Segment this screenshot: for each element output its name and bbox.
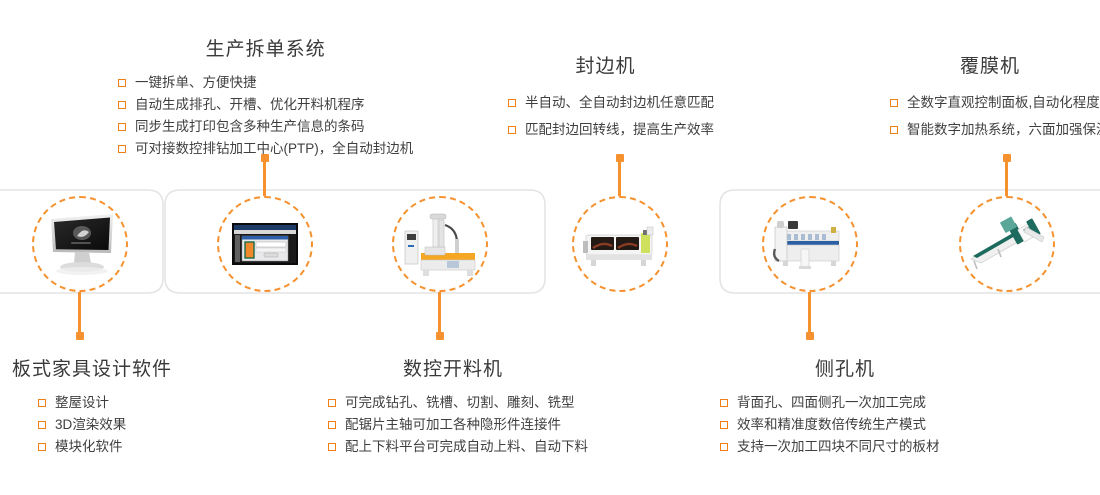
checkbox-square-icon [720,443,728,451]
block-cnc-cutting-machine: 数控开料机 可完成钻孔、铣槽、切割、雕刻、铣型 配锯片主轴可加工各种隐形件连接件… [328,358,588,458]
list-item: 配上下料平台可完成自动上料、自动下料 [328,436,588,458]
list-item-label: 配上下料平台可完成自动上料、自动下料 [345,439,588,454]
side-drilling-machine-icon [771,209,849,279]
block-title: 板式家具设计软件 [12,358,172,383]
list-item-label: 半自动、全自动封边机任意匹配 [525,95,714,110]
list-item: 可对接数控排钻加工中心(PTP)，全自动封边机 [118,138,413,160]
node-laminator[interactable] [959,196,1055,292]
checkbox-square-icon [38,399,46,407]
block-laminating-machine: 覆膜机 全数字直观控制面板,自动化程度高 智能数字加热系统，六面加强保温 [890,55,1100,143]
list-item: 模块化软件 [38,436,172,458]
list-item-label: 全数字直观控制面板,自动化程度高 [907,95,1100,110]
list-item: 同步生成打印包含多种生产信息的条码 [118,116,413,138]
block-title: 侧孔机 [720,358,970,383]
list-item: 配锯片主轴可加工各种隐形件连接件 [328,414,588,436]
connector-node-6 [1005,158,1008,198]
connector-node-5 [808,292,811,336]
infographic-root: { "theme": { "accent": "#f5922f", "bulle… [0,0,1100,495]
block-panel-furniture-design-software: 板式家具设计软件 整屋设计 3D渲染效果 模块化软件 [12,358,172,458]
list-item-label: 背面孔、四面侧孔一次加工完成 [737,395,926,410]
node-splitting-screen[interactable] [217,196,313,292]
list-item-label: 配锯片主轴可加工各种隐形件连接件 [345,417,561,432]
node-side-driller[interactable] [762,196,858,292]
checkbox-square-icon [328,443,336,451]
edge-banding-machine-icon [581,209,659,279]
node-cnc-router[interactable] [392,196,488,292]
list-item-label: 可对接数控排钻加工中心(PTP)，全自动封边机 [135,141,413,156]
list-item-label: 可完成钻孔、铣槽、切割、雕刻、铣型 [345,395,575,410]
node-design-computer[interactable] [32,196,128,292]
checkbox-square-icon [118,79,126,87]
list-item: 可完成钻孔、铣槽、切割、雕刻、铣型 [328,392,588,414]
laminating-machine-icon [968,209,1046,279]
cnc-router-machine-icon [401,209,479,279]
list-item-label: 支持一次加工四块不同尺寸的板材 [737,439,940,454]
block-title: 覆膜机 [890,55,1090,80]
checkbox-square-icon [508,99,516,107]
block-title: 数控开料机 [328,358,578,383]
connector-node-2 [263,158,266,198]
block-side-hole-drilling-machine: 侧孔机 背面孔、四面侧孔一次加工完成 效率和精准度数倍传统生产模式 支持一次加工… [720,358,970,458]
connector-dot [76,332,84,340]
feature-list: 半自动、全自动封边机任意匹配 匹配封边回转线，提高生产效率 [508,89,714,143]
imac-computer-icon [41,209,119,279]
checkbox-square-icon [720,421,728,429]
list-item-label: 整屋设计 [55,395,109,410]
feature-list: 整屋设计 3D渲染效果 模块化软件 [38,392,172,458]
checkbox-square-icon [118,101,126,109]
connector-node-3 [438,292,441,336]
checkbox-square-icon [38,443,46,451]
checkbox-square-icon [118,145,126,153]
checkbox-square-icon [720,399,728,407]
list-item: 3D渲染效果 [38,414,172,436]
list-item-label: 匹配封边回转线，提高生产效率 [525,122,714,137]
list-item: 全数字直观控制面板,自动化程度高 [890,89,1100,116]
list-item: 整屋设计 [38,392,172,414]
list-item-label: 自动生成排孔、开槽、优化开料机程序 [135,97,365,112]
connector-node-1 [78,292,81,336]
list-item-label: 智能数字加热系统，六面加强保温 [907,122,1100,137]
checkbox-square-icon [328,399,336,407]
connector-dot [616,154,624,162]
block-title: 生产拆单系统 [118,38,413,63]
checkbox-square-icon [890,99,898,107]
checkbox-square-icon [890,126,898,134]
connector-dot [806,332,814,340]
list-item-label: 3D渲染效果 [55,417,126,432]
list-item-label: 模块化软件 [55,439,123,454]
list-item: 半自动、全自动封边机任意匹配 [508,89,714,116]
list-item: 效率和精准度数倍传统生产模式 [720,414,970,436]
checkbox-square-icon [38,421,46,429]
block-edge-banding-machine: 封边机 半自动、全自动封边机任意匹配 匹配封边回转线，提高生产效率 [508,55,714,143]
list-item: 背面孔、四面侧孔一次加工完成 [720,392,970,414]
list-item: 匹配封边回转线，提高生产效率 [508,116,714,143]
connector-dot [1003,154,1011,162]
list-item: 支持一次加工四块不同尺寸的板材 [720,436,970,458]
feature-list: 全数字直观控制面板,自动化程度高 智能数字加热系统，六面加强保温 [890,89,1100,143]
node-edge-bander[interactable] [572,196,668,292]
connector-dot [436,332,444,340]
list-item: 智能数字加热系统，六面加强保温 [890,116,1100,143]
block-title: 封边机 [508,55,703,80]
feature-list: 背面孔、四面侧孔一次加工完成 效率和精准度数倍传统生产模式 支持一次加工四块不同… [720,392,970,458]
list-item: 一键拆单、方便快捷 [118,72,413,94]
checkbox-square-icon [118,123,126,131]
block-production-splitting-system: 生产拆单系统 一键拆单、方便快捷 自动生成排孔、开槽、优化开料机程序 同步生成打… [118,38,413,160]
list-item-label: 效率和精准度数倍传统生产模式 [737,417,926,432]
list-item: 自动生成排孔、开槽、优化开料机程序 [118,94,413,116]
feature-list: 可完成钻孔、铣槽、切割、雕刻、铣型 配锯片主轴可加工各种隐形件连接件 配上下料平… [328,392,588,458]
software-screenshot-icon [226,209,304,279]
checkbox-square-icon [508,126,516,134]
checkbox-square-icon [328,421,336,429]
list-item-label: 同步生成打印包含多种生产信息的条码 [135,119,365,134]
connector-node-4 [618,158,621,198]
list-item-label: 一键拆单、方便快捷 [135,75,257,90]
feature-list: 一键拆单、方便快捷 自动生成排孔、开槽、优化开料机程序 同步生成打印包含多种生产… [118,72,413,160]
